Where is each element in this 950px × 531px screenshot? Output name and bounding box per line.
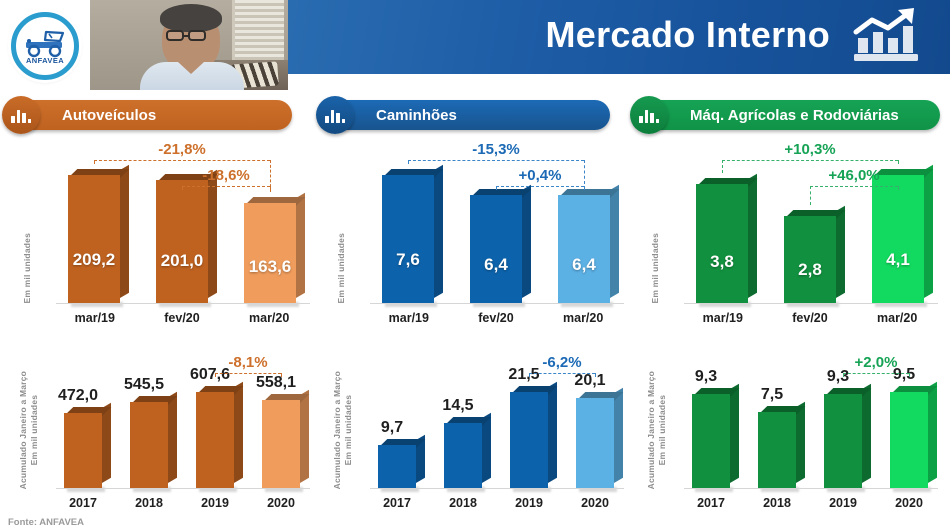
- bar-value-label: 472,0: [52, 387, 104, 405]
- section-label: Máq. Agrícolas e Rodoviárias: [690, 107, 899, 124]
- bar-value-label: 4,1: [872, 250, 924, 270]
- bar-mar/19: 3,8: [690, 138, 754, 303]
- bar-value-label: 9,5: [878, 366, 930, 384]
- page-title: Mercado Interno: [545, 14, 830, 56]
- slide-root: Mercado Interno ANFAVEA: [0, 0, 950, 531]
- plot-area: 9,37,59,39,5: [678, 345, 942, 489]
- presenter-video: [90, 0, 288, 90]
- chart-caminhoes-cumulative: Acumulado Janeiro a MarçoEm mil unidades…: [332, 345, 628, 515]
- source-note: Fonte: ANFAVEA: [8, 517, 84, 528]
- x-axis-line: [56, 303, 310, 304]
- section-header-maquinas[interactable]: Máq. Agrícolas e Rodoviárias: [644, 100, 940, 130]
- x-tick-mar/19: mar/19: [75, 311, 115, 325]
- bar-value-label: 2,8: [784, 260, 836, 280]
- bar-mar/19: 7,6: [376, 138, 440, 303]
- bar-chart-icon: [316, 96, 354, 134]
- bar-2018: 14,5: [438, 345, 488, 488]
- bar-value-label: 6,4: [558, 255, 610, 275]
- bar-value-label: 6,4: [470, 255, 522, 275]
- bar-fev/20: 201,0: [150, 138, 214, 303]
- bar-2020: 558,1: [256, 345, 306, 488]
- bar-value-label: 558,1: [250, 374, 302, 392]
- x-tick-mar/19: mar/19: [389, 311, 429, 325]
- bar-value-label: 545,5: [118, 376, 170, 394]
- x-tick-mar/19: mar/19: [703, 311, 743, 325]
- chart-autoveiculos-monthly: Em mil unidades209,2201,0163,6mar/19fev/…: [18, 138, 314, 330]
- x-axis-labels: 2017201820192020: [364, 493, 628, 513]
- bar-fev/20: 2,8: [778, 138, 842, 303]
- x-axis-labels: 2017201820192020: [678, 493, 942, 513]
- x-tick-2018: 2018: [449, 496, 477, 510]
- bar-value-label: 9,7: [366, 419, 418, 437]
- x-tick-fev/20: fev/20: [792, 311, 827, 325]
- bar-value-label: 163,6: [244, 257, 296, 277]
- bar-chart-icon: [2, 96, 40, 134]
- x-axis-line: [56, 488, 310, 489]
- bar-2017: 9,3: [686, 345, 736, 488]
- bar-mar/20: 6,4: [552, 138, 616, 303]
- bar-group: 9,37,59,39,5: [678, 345, 942, 488]
- bar-mar/20: 163,6: [238, 138, 302, 303]
- x-tick-2020: 2020: [581, 496, 609, 510]
- x-tick-mar/20: mar/20: [877, 311, 917, 325]
- x-tick-2019: 2019: [829, 496, 857, 510]
- bar-group: 7,66,46,4: [364, 138, 628, 303]
- bar-2019: 607,6: [190, 345, 240, 488]
- x-tick-2018: 2018: [135, 496, 163, 510]
- x-tick-2020: 2020: [267, 496, 295, 510]
- bar-value-label: 7,6: [382, 250, 434, 270]
- chart-maquinas-cumulative: Acumulado Janeiro a MarçoEm mil unidades…: [646, 345, 942, 515]
- bar-2018: 545,5: [124, 345, 174, 488]
- y-axis-label: Em mil unidades: [336, 233, 347, 304]
- x-tick-2017: 2017: [697, 496, 725, 510]
- bar-group: 3,82,84,1: [678, 138, 942, 303]
- bar-2017: 472,0: [58, 345, 108, 488]
- header-divider: [0, 90, 288, 94]
- bar-fev/20: 6,4: [464, 138, 528, 303]
- chart-autoveiculos-cumulative: Acumulado Janeiro a MarçoEm mil unidades…: [18, 345, 314, 515]
- x-axis-labels: 2017201820192020: [50, 493, 314, 513]
- y-axis-label: Em mil unidades: [22, 233, 33, 304]
- x-tick-2017: 2017: [383, 496, 411, 510]
- bar-value-label: 14,5: [432, 397, 484, 415]
- bar-mar/20: 4,1: [866, 138, 930, 303]
- bar-group: 9,714,521,520,1: [364, 345, 628, 488]
- bar-2020: 9,5: [884, 345, 934, 488]
- x-axis-labels: mar/19fev/20mar/20: [678, 308, 942, 328]
- section-header-caminhoes[interactable]: Caminhões: [330, 100, 610, 130]
- bar-value-label: 7,5: [746, 386, 798, 404]
- y-axis-label: Acumulado Janeiro a MarçoEm mil unidades: [18, 371, 40, 489]
- bar-chart-icon: [630, 96, 668, 134]
- x-tick-fev/20: fev/20: [164, 311, 199, 325]
- y-axis-label: Acumulado Janeiro a MarçoEm mil unidades: [332, 371, 354, 489]
- bar-value-label: 3,8: [696, 252, 748, 272]
- bar-value-label: 9,3: [680, 368, 732, 386]
- x-axis-labels: mar/19fev/20mar/20: [50, 308, 314, 328]
- bar-chart-up-icon: [848, 8, 926, 66]
- bar-value-label: 20,1: [564, 372, 616, 390]
- bar-value-label: 201,0: [156, 251, 208, 271]
- bar-2017: 9,7: [372, 345, 422, 488]
- plot-area: 7,66,46,4: [364, 138, 628, 304]
- chart-caminhoes-monthly: Em mil unidades7,66,46,4mar/19fev/20mar/…: [332, 138, 628, 330]
- y-axis-label: Em mil unidades: [650, 233, 661, 304]
- bar-group: 209,2201,0163,6: [50, 138, 314, 303]
- bar-value-label: 9,3: [812, 368, 864, 386]
- plot-area: 209,2201,0163,6: [50, 138, 314, 304]
- x-axis-labels: mar/19fev/20mar/20: [364, 308, 628, 328]
- x-tick-mar/20: mar/20: [249, 311, 289, 325]
- x-tick-fev/20: fev/20: [478, 311, 513, 325]
- y-axis-label: Acumulado Janeiro a MarçoEm mil unidades: [646, 371, 668, 489]
- x-tick-2019: 2019: [515, 496, 543, 510]
- x-tick-2018: 2018: [763, 496, 791, 510]
- anfavea-logo-text: ANFAVEA: [26, 56, 64, 65]
- anfavea-logo: ANFAVEA: [0, 0, 90, 92]
- bar-mar/19: 209,2: [62, 138, 126, 303]
- x-tick-2017: 2017: [69, 496, 97, 510]
- section-label: Autoveículos: [62, 107, 156, 124]
- plot-area: 472,0545,5607,6558,1: [50, 345, 314, 489]
- bar-value-label: 209,2: [68, 250, 120, 270]
- chart-maquinas-monthly: Em mil unidades3,82,84,1mar/19fev/20mar/…: [646, 138, 942, 330]
- x-tick-2019: 2019: [201, 496, 229, 510]
- bar-2019: 21,5: [504, 345, 554, 488]
- bar-group: 472,0545,5607,6558,1: [50, 345, 314, 488]
- x-tick-2020: 2020: [895, 496, 923, 510]
- x-tick-mar/20: mar/20: [563, 311, 603, 325]
- x-axis-line: [684, 488, 938, 489]
- bar-2018: 7,5: [752, 345, 802, 488]
- x-axis-line: [370, 488, 624, 489]
- bar-2020: 20,1: [570, 345, 620, 488]
- bar-value-label: 607,6: [184, 366, 236, 384]
- bar-value-label: 21,5: [498, 366, 550, 384]
- section-header-autoveiculos[interactable]: Autoveículos: [16, 100, 292, 130]
- x-axis-line: [684, 303, 938, 304]
- vehicle-icon: [22, 30, 68, 58]
- section-label: Caminhões: [376, 107, 457, 124]
- x-axis-line: [370, 303, 624, 304]
- bar-2019: 9,3: [818, 345, 868, 488]
- plot-area: 9,714,521,520,1: [364, 345, 628, 489]
- plot-area: 3,82,84,1: [678, 138, 942, 304]
